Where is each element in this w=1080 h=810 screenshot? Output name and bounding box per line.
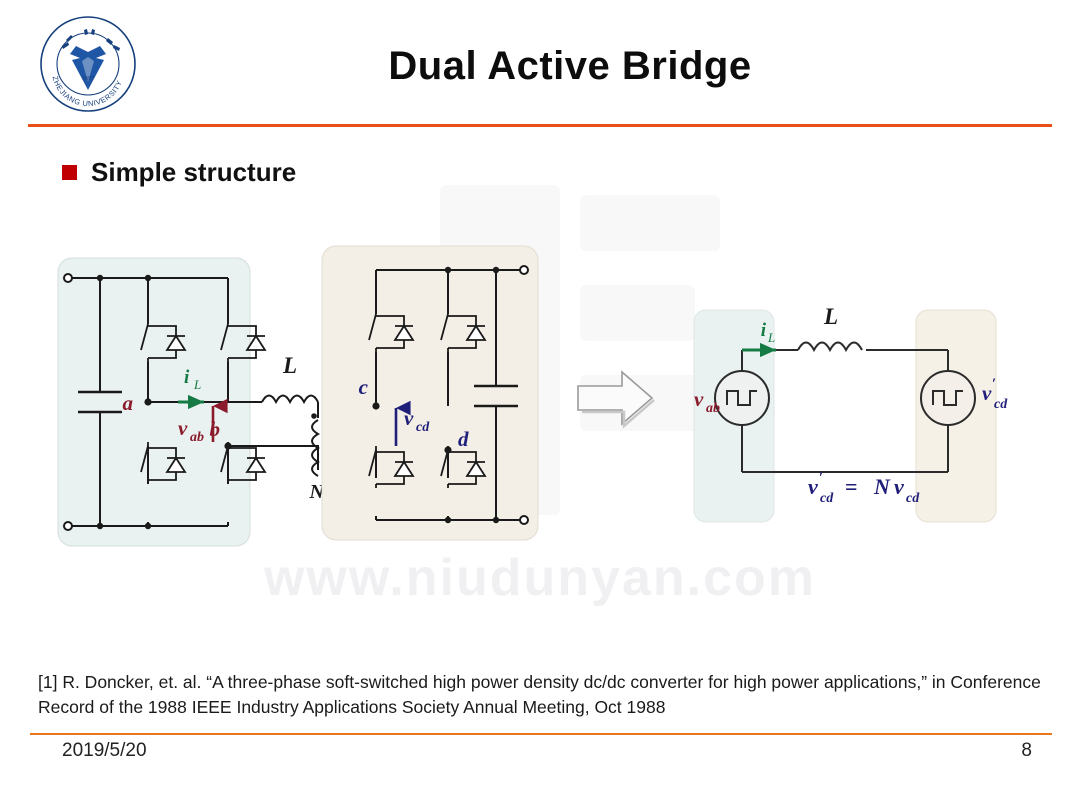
bullet-square-icon — [62, 165, 77, 180]
footer-page-number: 8 — [1021, 740, 1032, 762]
inductor-l-coil-icon — [262, 396, 318, 403]
footer-date: 2019/5/20 — [62, 740, 147, 762]
reference-citation: [1] R. Doncker, et. al. “A three-phase s… — [38, 670, 1048, 721]
right-dc-terminal-negative — [520, 516, 528, 524]
right-bridge-panel — [322, 246, 538, 540]
node-a-dot — [144, 398, 151, 405]
svg-text:v: v — [694, 387, 704, 411]
page-title: Dual Active Bridge — [160, 44, 980, 89]
svg-text:v: v — [894, 474, 904, 499]
university-logo-icon: ZHEJIANG UNIVERSITY 1897 — [36, 12, 140, 116]
transformer-dot-primary — [311, 413, 317, 419]
equivalent-equation: v ′ cd = N v cd — [808, 470, 920, 506]
node-c-dot — [372, 402, 379, 409]
svg-text:v: v — [982, 381, 992, 405]
node-b-label: b — [210, 417, 221, 441]
equivalent-circuit-group: L v ab v ′ cd i — [694, 304, 1008, 522]
svg-text:ab: ab — [190, 430, 204, 445]
svg-text:cd: cd — [820, 491, 834, 506]
svg-text:cd: cd — [906, 491, 920, 506]
svg-text:′: ′ — [992, 376, 996, 392]
svg-text:1897: 1897 — [82, 76, 94, 82]
svg-text:′: ′ — [819, 470, 823, 486]
footer-divider — [30, 733, 1052, 735]
bullet-label: Simple structure — [91, 157, 296, 188]
svg-text:N: N — [873, 474, 891, 499]
series-inductor-group: L — [262, 353, 318, 402]
svg-text:i: i — [184, 367, 190, 388]
svg-text:=: = — [845, 474, 858, 499]
svg-text:v: v — [808, 474, 818, 499]
equivalent-inductor-label: L — [823, 304, 838, 329]
transition-arrow-icon — [578, 372, 654, 426]
svg-text:cd: cd — [994, 397, 1008, 412]
header-divider — [28, 124, 1052, 127]
source-vcd-symbol — [921, 371, 975, 425]
right-bridge-group: c d v cd — [322, 246, 538, 540]
source-vab-symbol — [715, 371, 769, 425]
svg-text:cd: cd — [416, 420, 430, 435]
inductor-l-label: L — [282, 353, 297, 378]
node-a-label: a — [123, 391, 134, 415]
node-d-label: d — [458, 427, 469, 451]
svg-text:ab: ab — [706, 401, 720, 416]
right-dc-terminal-positive — [520, 266, 528, 274]
bullet-heading: Simple structure — [62, 157, 296, 188]
svg-text:L: L — [767, 330, 775, 345]
left-dc-terminal-negative — [64, 522, 72, 530]
svg-text:v: v — [178, 416, 188, 440]
svg-text:v: v — [404, 406, 414, 430]
left-dc-terminal-positive — [64, 274, 72, 282]
node-c-label: c — [359, 375, 369, 399]
dab-circuit-diagram: a b i L v ab L — [0, 240, 1080, 580]
equivalent-inductor-icon — [798, 343, 862, 351]
svg-text:L: L — [193, 377, 201, 392]
svg-text:i: i — [761, 320, 767, 341]
slide-canvas: www.niudunyan.com ZHEJIANG UNIVERSITY 18… — [0, 0, 1080, 810]
left-bridge-group: a b i L v ab — [58, 258, 308, 546]
